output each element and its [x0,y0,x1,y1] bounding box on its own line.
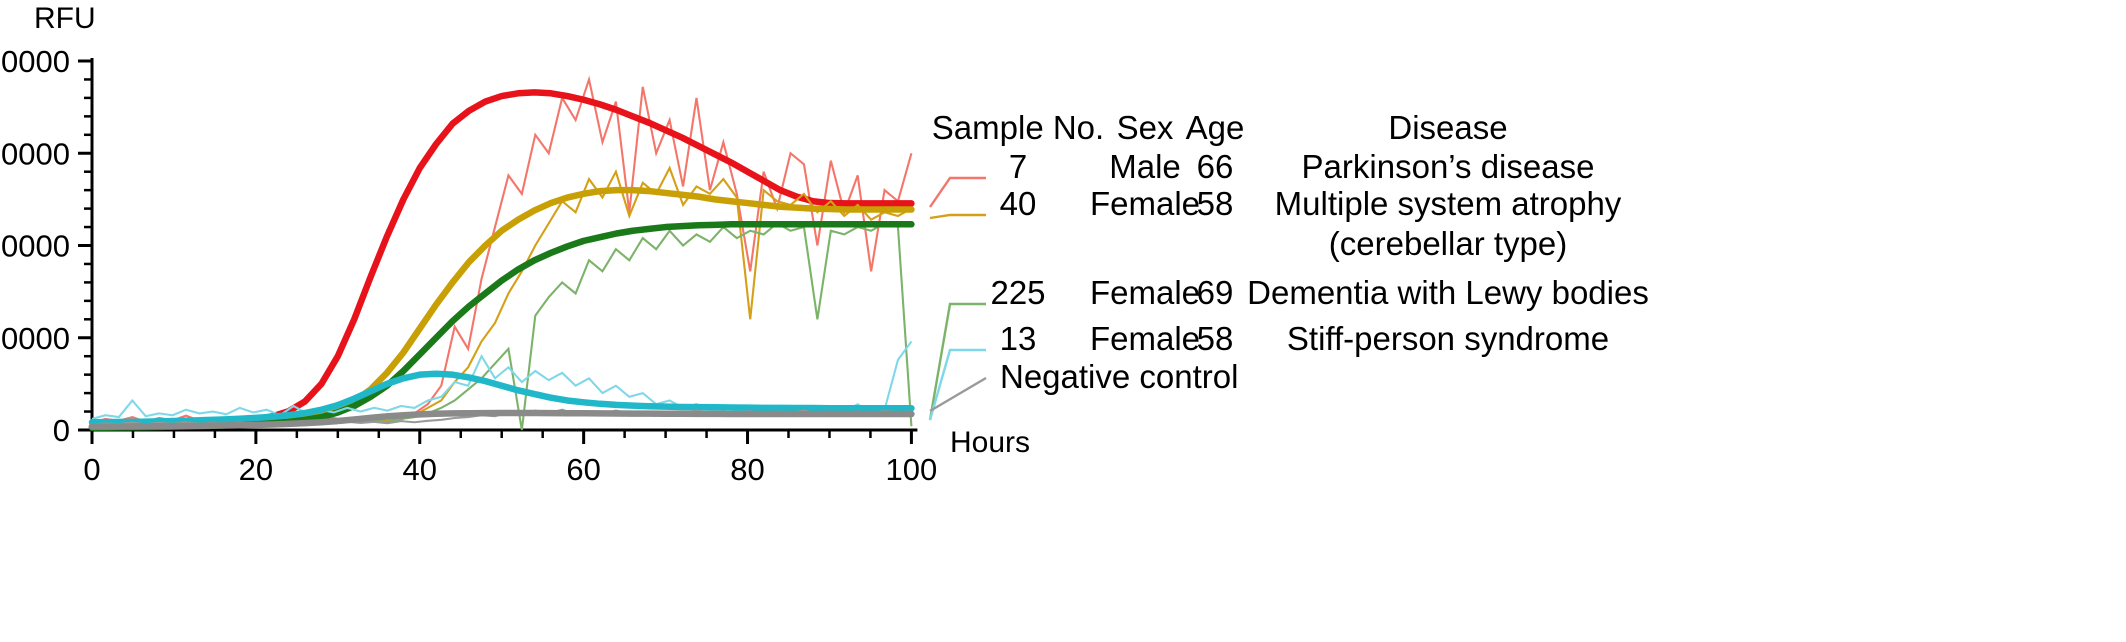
legend-cell-sex: Female [1090,320,1200,357]
x-axis-title: Hours [950,426,1030,459]
x-tick-label: 100 [886,452,938,487]
y-axis-title: RFU [34,2,96,35]
raw-trace [92,223,911,430]
y-axis: 050000100000150000200000 [0,44,92,448]
legend-cell-sample-no: 40 [1000,185,1037,222]
legend-header-disease: Disease [1388,109,1507,146]
raw-trace [92,79,911,422]
x-axis: 020406080100 [83,430,937,487]
series-group [92,79,911,430]
legend-cell-sex: Female [1090,274,1200,311]
legend-cell-sex: Female [1090,185,1200,222]
fit-curve [92,224,911,428]
legend-cell-disease: Dementia with Lewy bodies [1247,274,1649,311]
legend-header-sample-no: Sample No. [932,109,1104,146]
legend-header-age: Age [1186,109,1245,146]
x-tick-label: 0 [83,452,100,487]
legend-cell-age: 66 [1197,148,1234,185]
legend-cell-sample-no: 225 [990,274,1045,311]
legend: Sample No.SexAgeDisease7Male66Parkinson’… [930,109,1649,420]
legend-cell-age: 58 [1197,320,1234,357]
series-225 [92,223,911,430]
legend-cell-sample-no: 7 [1009,148,1027,185]
series-7 [92,79,911,426]
legend-cell-disease-cont: (cerebellar type) [1329,225,1567,262]
legend-cell-disease: Parkinson’s disease [1302,148,1595,185]
aggregation-kinetics-chart: RFUHours05000010000015000020000002040608… [0,0,2126,642]
x-tick-label: 60 [566,452,600,487]
legend-cell-sample-no: 13 [1000,320,1037,357]
x-tick-label: 80 [730,452,764,487]
legend-row[interactable]: 40Female58Multiple system atrophy(cerebe… [930,185,1622,262]
legend-swatch-line [930,215,986,218]
legend-cell-age: 69 [1197,274,1234,311]
legend-cell-sample-no: Negative control [1000,358,1238,395]
x-tick-label: 20 [239,452,273,487]
y-tick-label: 0 [53,413,70,448]
legend-cell-disease: Stiff-person syndrome [1287,320,1609,357]
y-tick-label: 150000 [0,136,70,171]
legend-swatch-line [930,178,986,207]
legend-swatch-line [930,304,986,420]
x-tick-label: 40 [403,452,437,487]
y-tick-label: 200000 [0,44,70,79]
legend-cell-disease: Multiple system atrophy [1275,185,1622,222]
legend-cell-age: 58 [1197,185,1234,222]
y-tick-label: 50000 [0,321,70,356]
legend-header-sex: Sex [1117,109,1174,146]
legend-row[interactable]: Negative control [930,358,1238,411]
fit-curve [92,92,911,426]
legend-swatch-line [930,350,986,420]
chart-root: RFUHours05000010000015000020000002040608… [0,0,2126,642]
y-tick-label: 100000 [0,229,70,264]
legend-cell-sex: Male [1109,148,1181,185]
